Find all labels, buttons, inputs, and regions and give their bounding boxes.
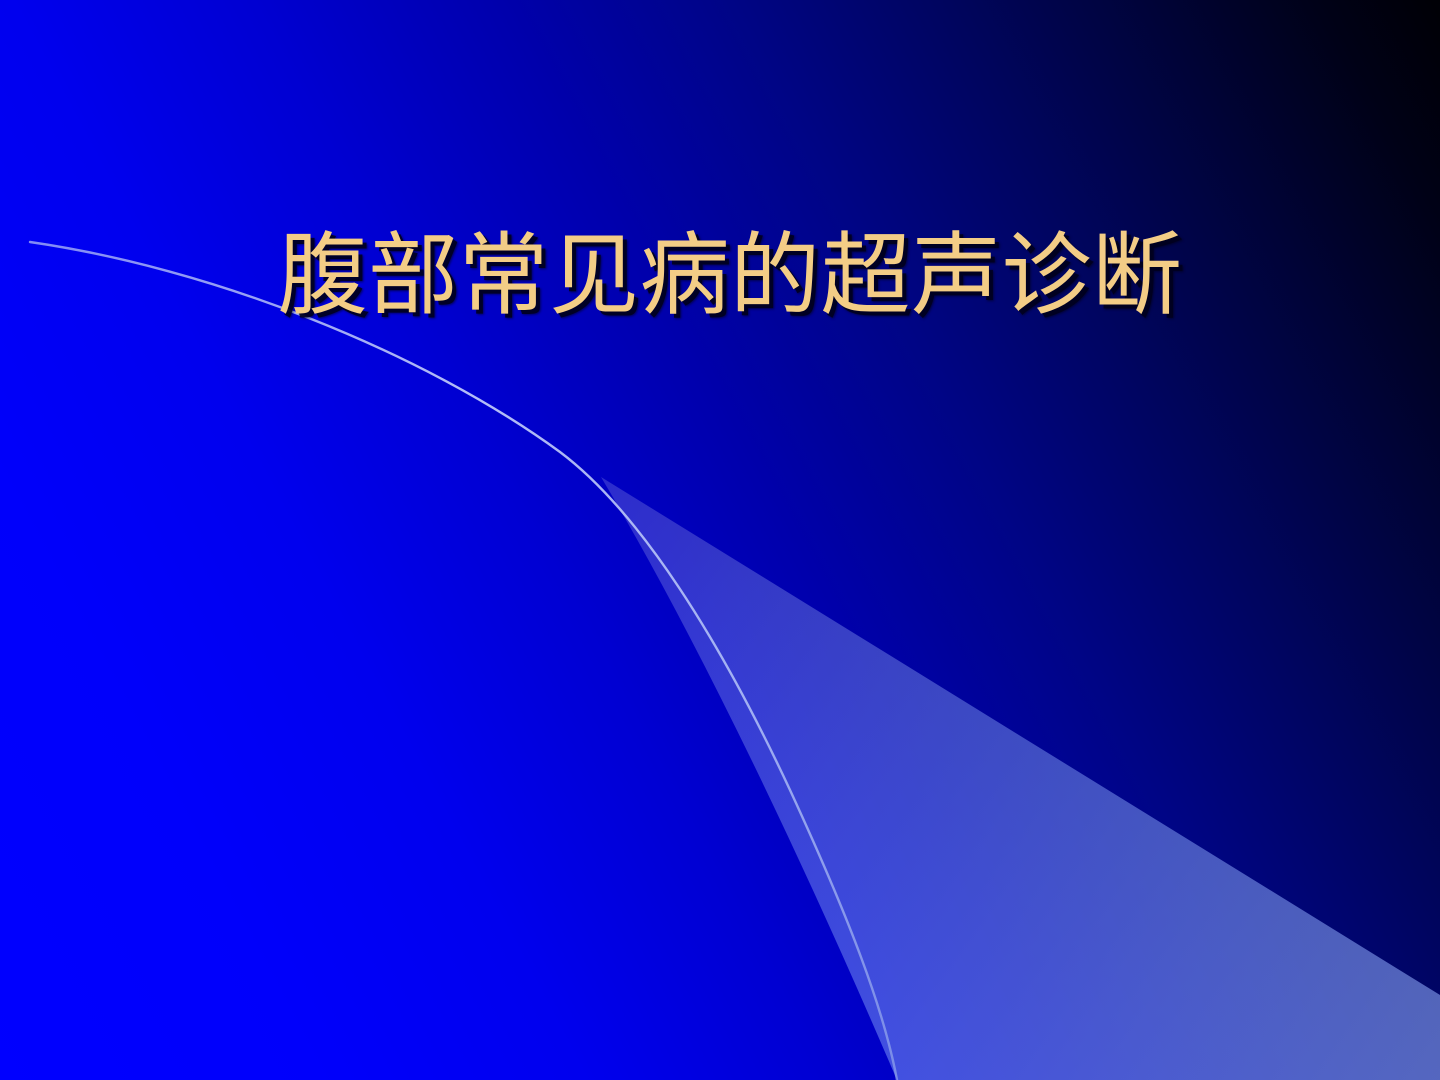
presentation-slide: 腹部常见病的超声诊断 bbox=[0, 0, 1440, 1080]
title-placeholder: 腹部常见病的超声诊断 bbox=[0, 0, 1440, 1080]
page-title: 腹部常见病的超声诊断 bbox=[150, 228, 1310, 323]
